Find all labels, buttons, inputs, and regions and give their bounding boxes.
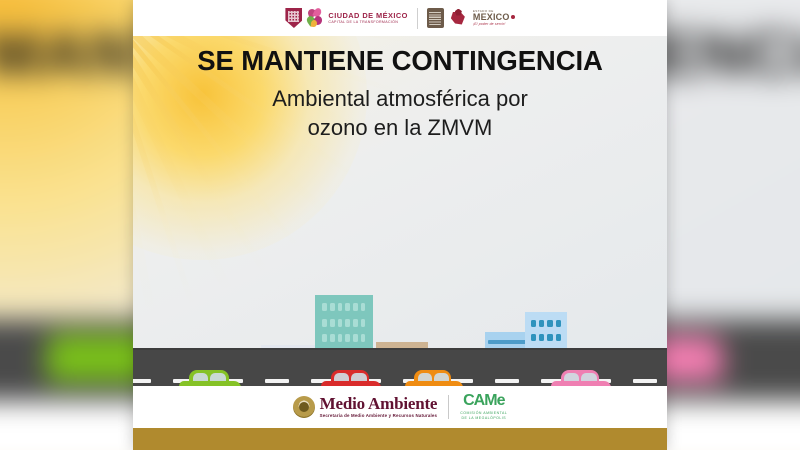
came-subtitle-line-2: DE LA MEGALÓPOLIS — [460, 416, 507, 421]
poster-text-block: SE MANTIENE CONTINGENCIA Ambiental atmos… — [133, 46, 667, 142]
edomex-seal-icon — [427, 8, 444, 28]
page-title: SE MANTIENE CONTINGENCIA — [133, 46, 667, 76]
came-wordmark: CAMe — [463, 393, 504, 409]
edomex-tagline: ¡El poder de servir! — [473, 23, 515, 26]
logo-medio-ambiente: Medio Ambiente Secretaría de Medio Ambie… — [293, 395, 438, 418]
mexico-eagle-seal-icon — [293, 396, 315, 418]
cdmx-shield-icon — [285, 8, 302, 28]
lane-dash — [633, 379, 657, 383]
lane-dash — [265, 379, 289, 383]
cdmx-wordmark: CIUDAD DE MÉXICO — [328, 12, 407, 20]
edomex-wordmark: MEXICO — [473, 12, 510, 22]
header-divider — [417, 8, 418, 29]
screenshot-stage: SE MANTIENE CONTINGENCIA CIUDAD DE MÉXIC… — [0, 0, 800, 450]
lane-dash — [495, 379, 519, 383]
logo-came: CAMe COMISIÓN AMBIENTAL DE LA MEGALÓPOLI… — [460, 393, 507, 420]
poster-footer: Medio Ambiente Secretaría de Medio Ambie… — [133, 386, 667, 428]
lane-dash — [133, 379, 151, 383]
logo-estado-de-mexico: ESTADO DE MEXICO ¡El poder de servir! — [427, 8, 515, 28]
poster-card: CIUDAD DE MÉXICO CAPITAL DE LA TRANSFORM… — [133, 0, 667, 450]
footer-divider — [448, 395, 449, 419]
edomex-dot-icon — [511, 15, 515, 19]
page-subtitle-line-2: ozono en la ZMVM — [133, 114, 667, 143]
edomex-state-map-icon — [449, 9, 468, 28]
poster-header: CIUDAD DE MÉXICO CAPITAL DE LA TRANSFORM… — [133, 0, 667, 36]
page-subtitle-line-1: Ambiental atmosférica por — [133, 85, 667, 114]
logo-ciudad-de-mexico: CIUDAD DE MÉXICO CAPITAL DE LA TRANSFORM… — [285, 8, 407, 28]
semarnat-wordmark: Medio Ambiente — [320, 395, 438, 413]
cdmx-flower-icon — [307, 8, 323, 28]
cdmx-tagline: CAPITAL DE LA TRANSFORMACIÓN — [328, 21, 407, 25]
semarnat-subtitle: Secretaría de Medio Ambiente y Recursos … — [320, 414, 438, 419]
gold-bottom-bar — [133, 428, 667, 450]
